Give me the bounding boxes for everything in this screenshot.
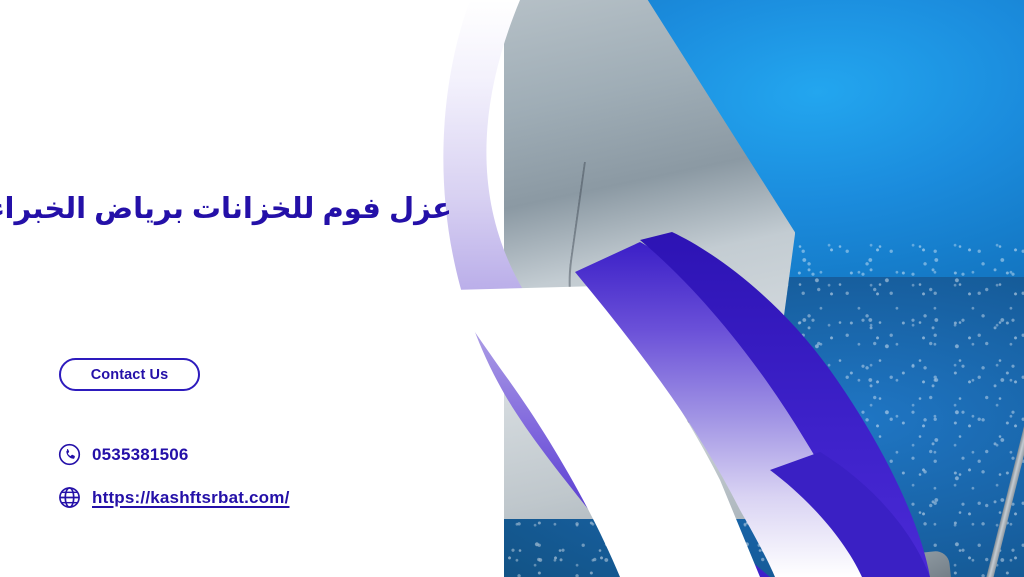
phone-circle-icon (58, 443, 81, 466)
phone-link[interactable]: 0535381506 (58, 443, 189, 466)
tank-photo (504, 0, 1024, 577)
website-link[interactable]: https://kashftsrbat.com/ (58, 486, 290, 509)
photo-image (504, 0, 1024, 577)
globe-icon (58, 486, 81, 509)
worker-figure (702, 381, 758, 429)
website-url: https://kashftsrbat.com/ (92, 488, 290, 508)
contact-us-button[interactable]: Contact Us (59, 358, 200, 391)
content-column: عزل فوم للخزانات برياض الخبراء Contact U… (0, 0, 500, 577)
page-title: عزل فوم للخزانات برياض الخبراء (42, 190, 452, 229)
work-lamp-glow (660, 289, 722, 351)
promo-banner: عزل فوم للخزانات برياض الخبراء Contact U… (0, 0, 1024, 577)
phone-number: 0535381506 (92, 445, 189, 465)
